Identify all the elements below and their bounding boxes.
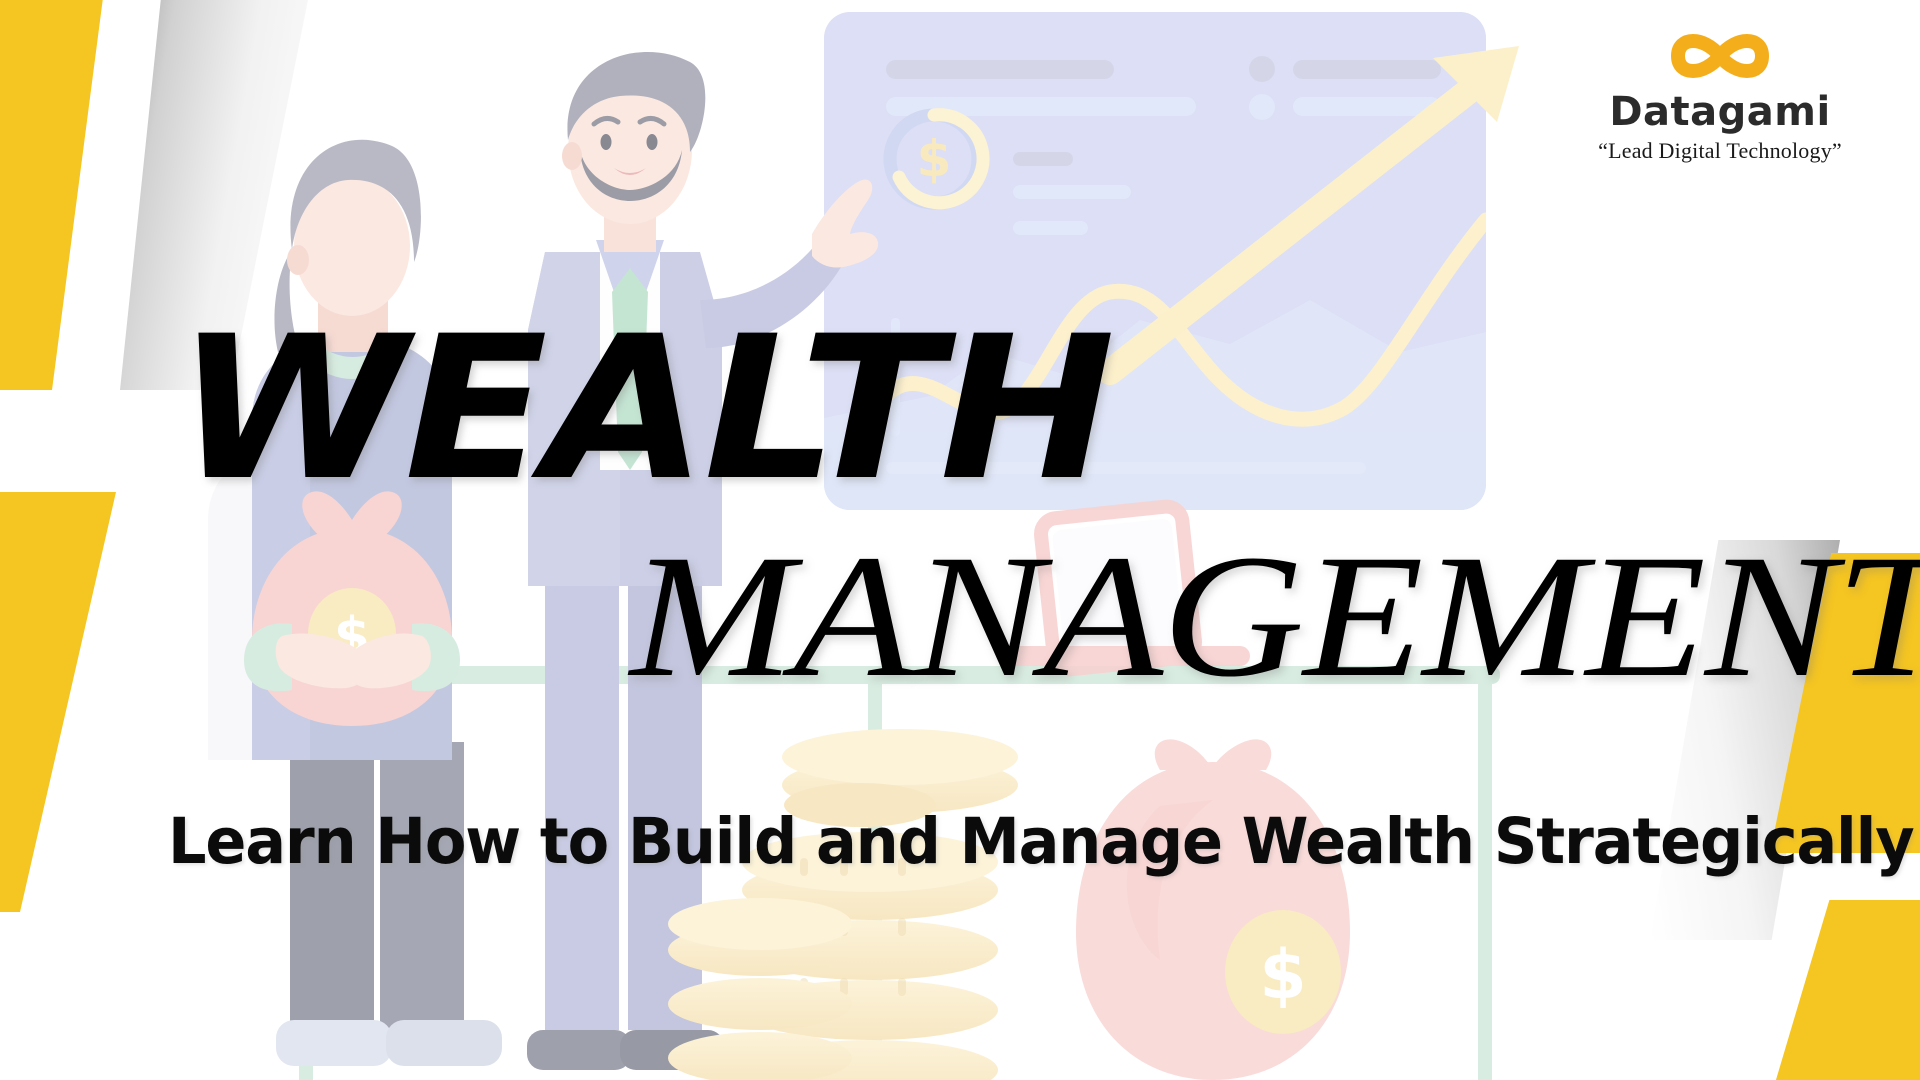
logo-tagline: “Lead Digital Technology” <box>1555 138 1885 164</box>
poster-subtitle: Learn How to Build and Manage Wealth Str… <box>168 805 1704 878</box>
infinity-icon <box>1640 18 1800 94</box>
headline-primary: WEALTH <box>176 322 1112 496</box>
brand-logo: Datagami “Lead Digital Technology” <box>1555 18 1885 164</box>
poster-canvas: $ <box>0 0 1920 1080</box>
headline-secondary: MANAGEMENT <box>630 545 1920 689</box>
logo-wordmark: Datagami <box>1555 92 1885 132</box>
